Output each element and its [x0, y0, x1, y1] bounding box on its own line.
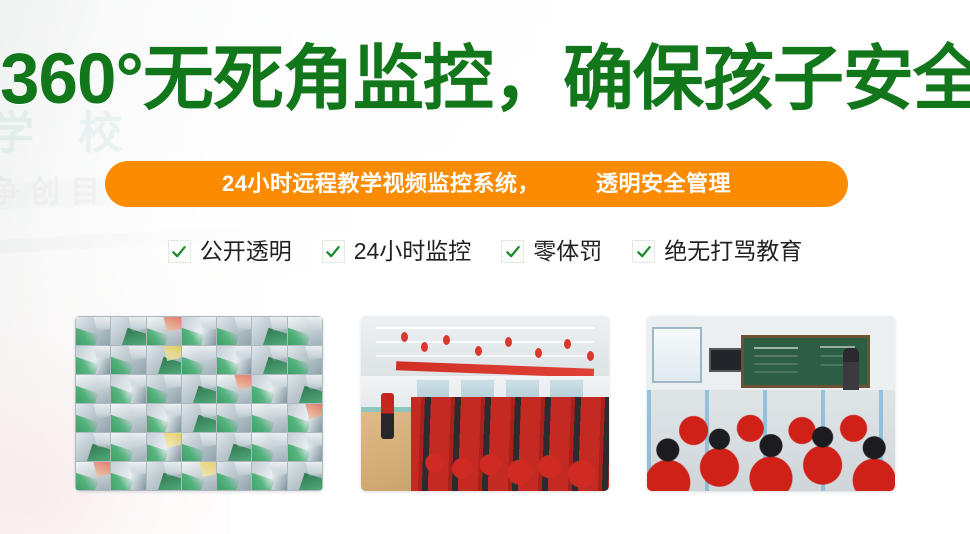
subtitle-pill-content: 24小时远程教学视频监控系统， 透明安全管理 — [222, 173, 731, 195]
assembly-hall-scene — [361, 316, 609, 491]
feature-item-24h-monitoring: 24小时监控 — [322, 240, 472, 263]
classroom-scene — [647, 316, 895, 491]
check-icon — [632, 240, 655, 263]
feature-label: 24小时监控 — [354, 240, 472, 263]
page-title: 360°无死角监控，确保孩子安全 — [0, 44, 970, 115]
cctv-grid — [75, 316, 323, 491]
check-icon — [322, 240, 345, 263]
hall-student-crowd — [411, 397, 609, 492]
feature-label: 零体罚 — [533, 240, 602, 263]
subtitle-primary-text: 24小时远程教学视频监控系统， — [222, 173, 540, 195]
cctv-monitor-wall-photo — [75, 316, 323, 491]
feature-list: 公开透明 24小时监控 零体罚 绝无打骂 — [0, 240, 970, 263]
classroom-students — [647, 383, 895, 492]
promo-banner: 学 校 争创目标 360°无死角监控，确保孩子安全 24小时远程教学视频监控系统… — [0, 0, 970, 534]
feature-label: 绝无打骂教育 — [664, 240, 802, 263]
classroom-lesson-photo — [647, 316, 895, 491]
photo-strip — [0, 316, 970, 491]
feature-label: 公开透明 — [200, 240, 292, 263]
feature-item-public-transparency: 公开透明 — [168, 240, 292, 263]
check-icon — [168, 240, 191, 263]
school-assembly-hall-photo — [361, 316, 609, 491]
classroom-window — [652, 327, 702, 383]
subtitle-secondary-text: 透明安全管理 — [596, 173, 731, 195]
subtitle-pill: 24小时远程教学视频监控系统， 透明安全管理 — [105, 161, 848, 207]
hall-speaker-person — [381, 393, 394, 439]
feature-item-no-corporal-punishment: 零体罚 — [501, 240, 602, 263]
check-icon — [501, 240, 524, 263]
feature-item-no-abuse-education: 绝无打骂教育 — [632, 240, 802, 263]
